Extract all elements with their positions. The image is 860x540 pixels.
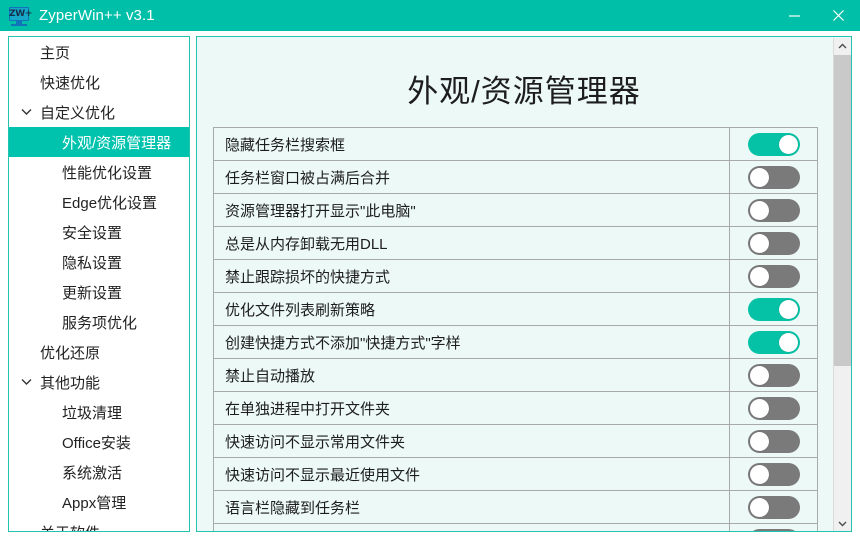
setting-toggle-cell[interactable] xyxy=(729,359,817,392)
setting-toggle-cell[interactable] xyxy=(729,458,817,491)
toggle-knob xyxy=(750,366,769,385)
sidebar-item-label: 安全设置 xyxy=(62,222,122,243)
sidebar-item-label: 快速优化 xyxy=(40,72,100,93)
toggle-switch[interactable] xyxy=(748,397,800,420)
settings-row: 总是从内存卸载无用DLL xyxy=(214,227,817,260)
sidebar-item-label: 外观/资源管理器 xyxy=(62,132,171,153)
app-monitor-icon: ZW+ xyxy=(8,5,30,27)
sidebar-item-6[interactable]: 安全设置 xyxy=(9,217,189,247)
sidebar-item-10[interactable]: 优化还原 xyxy=(9,337,189,367)
settings-row: 快速访问不显示常用文件夹 xyxy=(214,425,817,458)
sidebar-item-label: 服务项优化 xyxy=(62,312,137,333)
setting-label: 禁止跟踪损坏的快捷方式 xyxy=(214,266,729,287)
toggle-switch[interactable] xyxy=(748,331,800,354)
toggle-knob xyxy=(750,399,769,418)
toggle-knob xyxy=(750,432,769,451)
sidebar-item-5[interactable]: Edge优化设置 xyxy=(9,187,189,217)
toggle-knob xyxy=(750,498,769,517)
setting-toggle-cell[interactable] xyxy=(729,491,817,524)
toggle-knob xyxy=(750,234,769,253)
settings-row: 优化文件列表刷新策略 xyxy=(214,293,817,326)
toggle-switch[interactable] xyxy=(748,364,800,387)
toggle-switch[interactable] xyxy=(748,529,800,532)
sidebar-item-label: 隐私设置 xyxy=(62,252,122,273)
toggle-switch[interactable] xyxy=(748,496,800,519)
setting-toggle-cell[interactable] xyxy=(729,161,817,194)
setting-toggle-cell[interactable] xyxy=(729,392,817,425)
sidebar-nav: 主页快速优化自定义优化外观/资源管理器性能优化设置Edge优化设置安全设置隐私设… xyxy=(8,36,190,532)
sidebar-item-14[interactable]: 系统激活 xyxy=(9,457,189,487)
setting-label: 禁止自动播放 xyxy=(214,365,729,386)
setting-label: 创建快捷方式不添加"快捷方式"字样 xyxy=(214,332,729,353)
sidebar-item-15[interactable]: Appx管理 xyxy=(9,487,189,517)
settings-row: 禁止自动播放 xyxy=(214,359,817,392)
sidebar-item-label: Office安装 xyxy=(62,432,131,453)
setting-label: 隐藏任务栏搜索框 xyxy=(214,134,729,155)
setting-label: 语言栏隐藏到任务栏 xyxy=(214,497,729,518)
chevron-down-icon[interactable] xyxy=(19,367,33,397)
settings-list-viewport: 隐藏任务栏搜索框任务栏窗口被占满后合并资源管理器打开显示"此电脑"总是从内存卸载… xyxy=(213,127,818,531)
settings-row: 资源管理器打开显示"此电脑" xyxy=(214,194,817,227)
toggle-switch[interactable] xyxy=(748,430,800,453)
sidebar-item-label: 自定义优化 xyxy=(40,102,115,123)
sidebar-item-label: 优化还原 xyxy=(40,342,100,363)
sidebar-item-label: 其他功能 xyxy=(40,372,100,393)
setting-toggle-cell[interactable] xyxy=(729,425,817,458)
sidebar-item-0[interactable]: 主页 xyxy=(9,37,189,67)
setting-toggle-cell[interactable] xyxy=(729,227,817,260)
toggle-switch[interactable] xyxy=(748,133,800,156)
chevron-down-icon[interactable] xyxy=(19,97,33,127)
sidebar-item-1[interactable]: 快速优化 xyxy=(9,67,189,97)
settings-row: 隐藏任务栏搜索框 xyxy=(214,128,817,161)
title-bar: ZW+ ZyperWin++ v3.1 xyxy=(0,0,860,31)
sidebar-item-8[interactable]: 更新设置 xyxy=(9,277,189,307)
setting-label: 资源管理器打开显示"此电脑" xyxy=(214,200,729,221)
sidebar-item-label: 系统激活 xyxy=(62,462,122,483)
settings-list: 隐藏任务栏搜索框任务栏窗口被占满后合并资源管理器打开显示"此电脑"总是从内存卸载… xyxy=(213,127,818,531)
toggle-knob xyxy=(779,135,798,154)
settings-row: 快速访问不显示最近使用文件 xyxy=(214,458,817,491)
sidebar-item-13[interactable]: Office安装 xyxy=(9,427,189,457)
app-window: ZW+ ZyperWin++ v3.1 主页快速优化自定义优化外观/资源管理器性… xyxy=(0,0,860,540)
setting-toggle-cell[interactable] xyxy=(729,128,817,161)
settings-row: 语言栏隐藏到任务栏 xyxy=(214,491,817,524)
sidebar-item-9[interactable]: 服务项优化 xyxy=(9,307,189,337)
settings-row: 任务栏窗口被占满后合并 xyxy=(214,161,817,194)
setting-label: 快速访问不显示最近使用文件 xyxy=(214,464,729,485)
toggle-knob xyxy=(750,168,769,187)
close-button[interactable] xyxy=(816,0,860,31)
scrollbar-thumb[interactable] xyxy=(834,55,851,366)
settings-row: 禁止跟踪损坏的快捷方式 xyxy=(214,260,817,293)
settings-row: 创建快捷方式不添加"快捷方式"字样 xyxy=(214,326,817,359)
sidebar-item-2[interactable]: 自定义优化 xyxy=(9,97,189,127)
window-title: ZyperWin++ v3.1 xyxy=(39,7,155,24)
sidebar-item-label: Edge优化设置 xyxy=(62,192,157,213)
sidebar-item-label: 性能优化设置 xyxy=(62,162,152,183)
toggle-knob xyxy=(750,267,769,286)
sidebar-item-3[interactable]: 外观/资源管理器 xyxy=(9,127,189,157)
toggle-knob xyxy=(779,333,798,352)
setting-label: 任务栏窗口被占满后合并 xyxy=(214,167,729,188)
page-title: 外观/资源管理器 xyxy=(197,66,851,111)
setting-toggle-cell[interactable] xyxy=(729,260,817,293)
setting-label: 优化文件列表刷新策略 xyxy=(214,299,729,320)
setting-toggle-cell[interactable] xyxy=(729,326,817,359)
scrollbar-track[interactable] xyxy=(834,55,851,515)
content-panel: 外观/资源管理器 隐藏任务栏搜索框任务栏窗口被占满后合并资源管理器打开显示"此电… xyxy=(196,36,852,532)
sidebar-item-7[interactable]: 隐私设置 xyxy=(9,247,189,277)
scroll-up-arrow[interactable] xyxy=(834,38,851,55)
sidebar-item-label: 主页 xyxy=(40,42,70,63)
sidebar-item-12[interactable]: 垃圾清理 xyxy=(9,397,189,427)
sidebar-item-label: 更新设置 xyxy=(62,282,122,303)
sidebar-item-11[interactable]: 其他功能 xyxy=(9,367,189,397)
setting-toggle-cell[interactable] xyxy=(729,194,817,227)
toggle-switch[interactable] xyxy=(748,199,800,222)
setting-label: 快速访问不显示常用文件夹 xyxy=(214,431,729,452)
toggle-switch[interactable] xyxy=(748,265,800,288)
sidebar-item-label: 关于软件 xyxy=(40,522,100,533)
setting-label: 总是从内存卸载无用DLL xyxy=(214,233,729,254)
toggle-switch[interactable] xyxy=(748,463,800,486)
sidebar-item-label: 垃圾清理 xyxy=(62,402,122,423)
sidebar-item-4[interactable]: 性能优化设置 xyxy=(9,157,189,187)
sidebar-item-16[interactable]: 关于软件 xyxy=(9,517,189,532)
toggle-switch[interactable] xyxy=(748,298,800,321)
scroll-down-arrow[interactable] xyxy=(834,515,851,532)
toggle-knob xyxy=(750,465,769,484)
toggle-knob xyxy=(750,531,769,532)
toggle-switch[interactable] xyxy=(748,166,800,189)
setting-label: 在单独进程中打开文件夹 xyxy=(214,398,729,419)
toggle-knob xyxy=(779,300,798,319)
app-icon-text: ZW+ xyxy=(9,7,29,21)
minimize-button[interactable] xyxy=(772,0,816,31)
toggle-switch[interactable] xyxy=(748,232,800,255)
toggle-knob xyxy=(750,201,769,220)
sidebar-item-label: Appx管理 xyxy=(62,492,126,513)
vertical-scrollbar[interactable] xyxy=(833,38,850,532)
settings-row xyxy=(214,524,817,531)
setting-toggle-cell[interactable] xyxy=(729,293,817,326)
setting-toggle-cell[interactable] xyxy=(729,524,817,532)
settings-row: 在单独进程中打开文件夹 xyxy=(214,392,817,425)
